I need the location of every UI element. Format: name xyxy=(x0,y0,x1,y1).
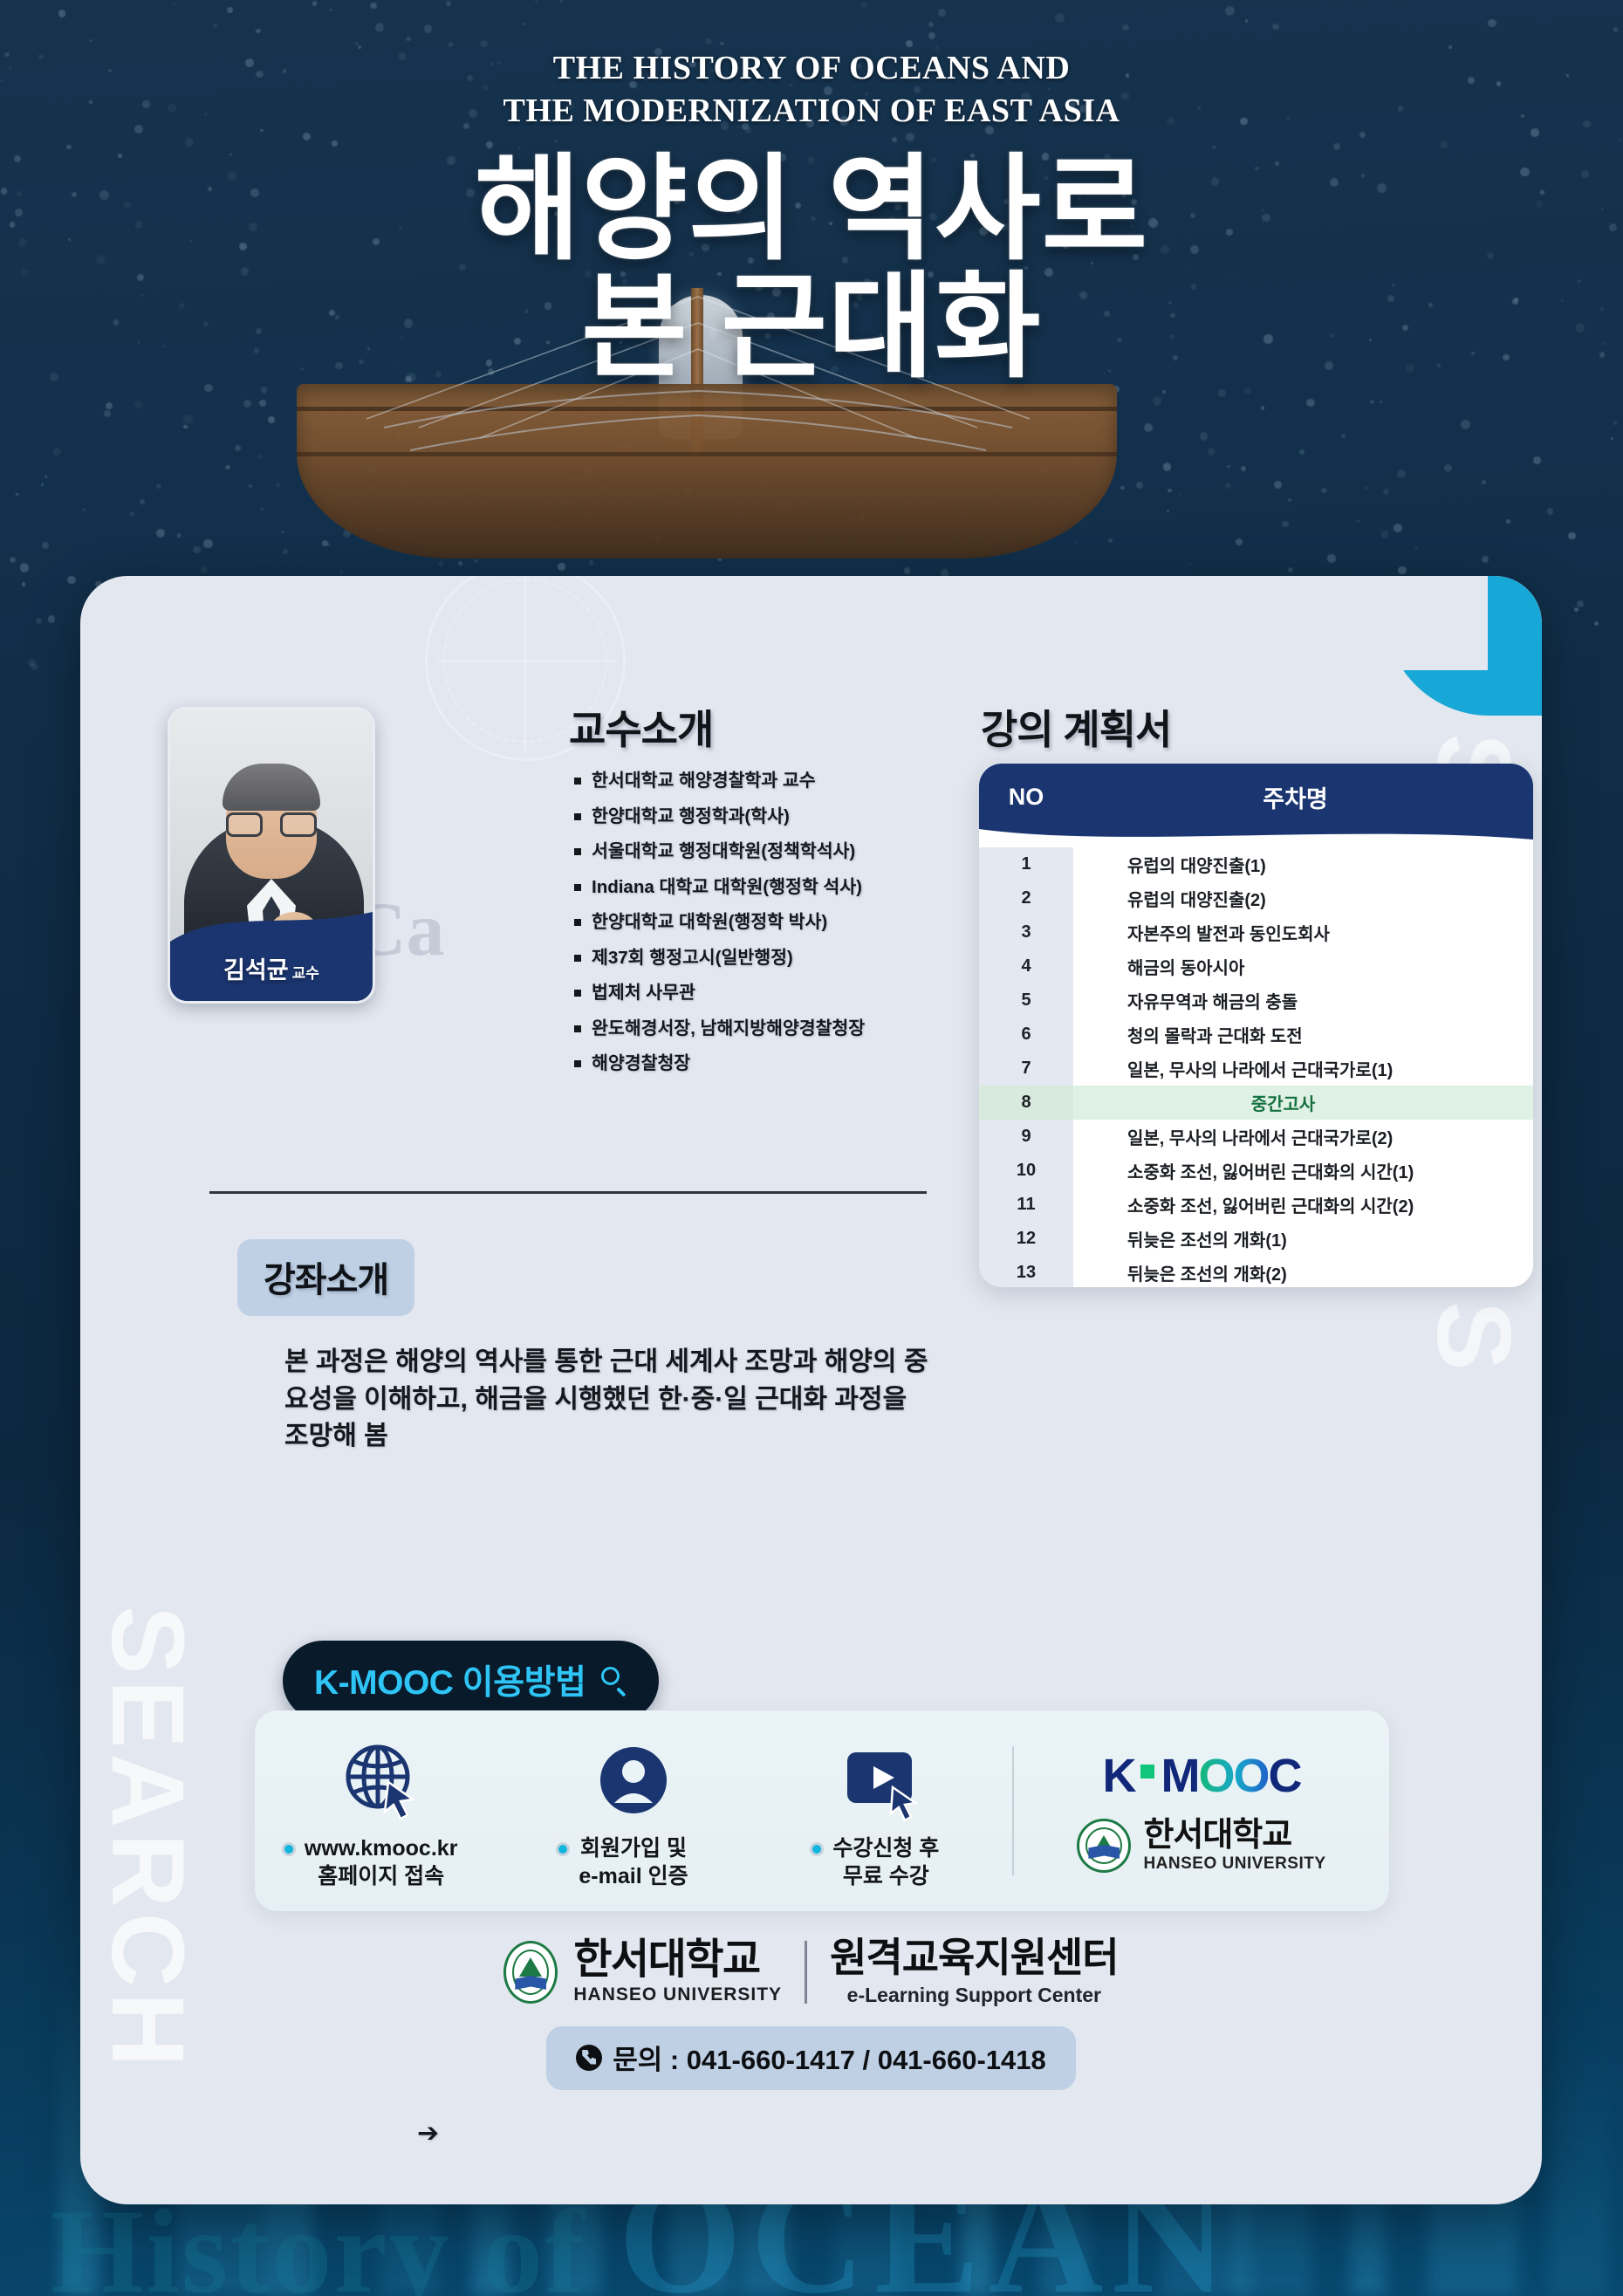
syllabus-row-no: 2 xyxy=(979,881,1073,915)
syllabus-row-no: 13 xyxy=(979,1256,1073,1287)
usage-step-label: 수강신청 후 무료 수강 xyxy=(832,1834,939,1891)
professor-name: 김석균 xyxy=(223,957,289,984)
kmooc-usage-label: K-MOOC 이용방법 xyxy=(314,1655,586,1704)
course-intro-body: ➔ 본 과정은 해양의 역사를 통한 근대 세계사 조망과 해양의 중요성을 이… xyxy=(246,1344,935,1456)
usage-step-line1: www.kmooc.kr xyxy=(305,1836,458,1861)
syllabus-row-no: 1 xyxy=(979,847,1073,881)
syllabus-row-name: 청의 몰락과 근대화 도전 xyxy=(1073,1022,1533,1047)
credential-item: 한양대학교 대학원(행정학 박사) xyxy=(574,914,949,932)
syllabus-row-name: 유럽의 대양진출(1) xyxy=(1073,852,1533,877)
hanseo-logo-en: HANSEO UNIVERSITY xyxy=(1143,1854,1325,1874)
syllabus-row: 10소중화 조선, 잃어버린 근대화의 시간(1) xyxy=(979,1154,1533,1188)
professor-section-heading: 교수소개 xyxy=(569,698,713,756)
play-button-icon xyxy=(842,1738,929,1822)
hanseo-logo: 한서대학교 HANSEO UNIVERSITY xyxy=(1077,1819,1325,1874)
kmooc-logo-oo: OO xyxy=(1198,1749,1268,1803)
syllabus-row-no: 6 xyxy=(979,1018,1073,1052)
course-intro-chip: 강좌소개 xyxy=(237,1239,414,1316)
syllabus-row: 4해금의 동아시아 xyxy=(979,949,1533,984)
usage-step-label: www.kmooc.kr 홈페이지 접속 xyxy=(305,1834,458,1891)
syllabus-row: 8중간고사 xyxy=(979,1086,1533,1120)
university-seal-icon xyxy=(503,1941,558,2004)
usage-step[interactable]: 수강신청 후 무료 수강 xyxy=(760,1731,1012,1891)
english-title-line1: THE HISTORY OF OCEANS AND xyxy=(0,47,1623,90)
footer-brand-en: HANSEO UNIVERSITY xyxy=(573,1984,782,2005)
syllabus-table: NO 주차명 1유럽의 대양진출(1)2유럽의 대양진출(2)3자본주의 발전과… xyxy=(979,764,1533,1287)
korean-title-line1: 해양의 역사로 xyxy=(0,151,1623,269)
syllabus-row-name: 자유무역과 해금의 충돌 xyxy=(1073,988,1533,1013)
syllabus-row: 6청의 몰락과 근대화 도전 xyxy=(979,1018,1533,1052)
kmooc-usage-button[interactable]: K-MOOC 이용방법 xyxy=(283,1641,659,1721)
english-title: THE HISTORY OF OCEANS AND THE MODERNIZAT… xyxy=(0,47,1623,132)
search-icon xyxy=(601,1667,627,1693)
course-intro-text: 본 과정은 해양의 역사를 통한 근대 세계사 조망과 해양의 중요성을 이해하… xyxy=(284,1344,935,1456)
syllabus-table-header: NO 주차명 xyxy=(979,764,1533,847)
usage-step-line2: e-mail 인증 xyxy=(579,1864,688,1888)
syllabus-row-no: 11 xyxy=(979,1188,1073,1222)
syllabus-row-no: 3 xyxy=(979,915,1073,949)
credential-item: 법제처 사무관 xyxy=(574,984,949,1003)
syllabus-section-heading: 강의 계획서 xyxy=(981,698,1171,756)
syllabus-row-name: 뒤늦은 조선의 개화(2) xyxy=(1073,1260,1533,1285)
syllabus-row-no: 8 xyxy=(979,1086,1073,1120)
kmooc-logo-square-icon xyxy=(1140,1765,1154,1779)
bullet-dot-icon xyxy=(282,1842,296,1856)
syllabus-row-no: 9 xyxy=(979,1120,1073,1154)
credential-item: 해양경찰청장 xyxy=(574,1055,949,1073)
usage-step-line2: 무료 수강 xyxy=(843,1864,929,1888)
column-header-week: 주차명 xyxy=(1073,780,1533,814)
syllabus-row: 3자본주의 발전과 동인도회사 xyxy=(979,915,1533,949)
professor-photo: 김석균교수 xyxy=(168,707,375,1004)
syllabus-row: 9일본, 무사의 나라에서 근대국가로(2) xyxy=(979,1120,1533,1154)
professor-title-suffix: 교수 xyxy=(292,965,319,982)
footer-center-kr: 원격교육지원센터 xyxy=(830,1937,1119,1977)
syllabus-row-name: 중간고사 xyxy=(1073,1090,1533,1115)
user-account-icon xyxy=(592,1738,675,1822)
credential-item: 제37회 행정고시(일반행정) xyxy=(574,949,949,968)
syllabus-row-no: 4 xyxy=(979,949,1073,984)
syllabus-row: 1유럽의 대양진출(1) xyxy=(979,847,1533,881)
footer-brand-kr: 한서대학교 xyxy=(573,1939,782,1981)
syllabus-row-name: 소중화 조선, 잃어버린 근대화의 시간(2) xyxy=(1073,1192,1533,1217)
credential-item: 한서대학교 해양경찰학과 교수 xyxy=(574,772,949,791)
university-seal-icon xyxy=(1077,1819,1131,1873)
credential-item: 완도해경서장, 남해지방해양경찰청장 xyxy=(574,1020,949,1038)
syllabus-row-no: 5 xyxy=(979,984,1073,1018)
footer-divider xyxy=(805,1941,807,2004)
kmooc-logo: K M OO C xyxy=(1102,1749,1300,1803)
syllabus-row: 12뒤늦은 조선의 개화(1) xyxy=(979,1222,1533,1256)
syllabus-row: 7일본, 무사의 나라에서 근대국가로(1) xyxy=(979,1052,1533,1086)
syllabus-table-body: 1유럽의 대양진출(1)2유럽의 대양진출(2)3자본주의 발전과 동인도회사4… xyxy=(979,847,1533,1287)
arrow-icon: ➔ xyxy=(417,2115,439,2153)
korean-title: 해양의 역사로 본 근대화 xyxy=(0,151,1623,386)
korean-title-line2: 본 근대화 xyxy=(0,269,1623,387)
syllabus-row-name: 일본, 무사의 나라에서 근대국가로(1) xyxy=(1073,1056,1533,1081)
usage-step-line1: 수강신청 후 xyxy=(832,1836,939,1861)
syllabus-row-no: 12 xyxy=(979,1222,1073,1256)
bullet-dot-icon xyxy=(556,1842,570,1856)
syllabus-row-no: 7 xyxy=(979,1052,1073,1086)
syllabus-row: 2유럽의 대양진출(2) xyxy=(979,881,1533,915)
phone-icon xyxy=(576,2045,602,2071)
footer-brand: 한서대학교 HANSEO UNIVERSITY 원격교육지원센터 e-Learn… xyxy=(503,1937,1118,2007)
syllabus-row-name: 해금의 동아시아 xyxy=(1073,954,1533,979)
syllabus-row: 13뒤늦은 조선의 개화(2) xyxy=(979,1256,1533,1287)
column-header-no: NO xyxy=(979,784,1073,811)
credential-item: 한양대학교 행정학과(학사) xyxy=(574,808,949,826)
syllabus-row: 11소중화 조선, 잃어버린 근대화의 시간(2) xyxy=(979,1188,1533,1222)
usage-step-label: 회원가입 및 e-mail 인증 xyxy=(579,1834,688,1891)
main-content-card: SYLLABUS SEARCH Ca 김석균교수 xyxy=(80,576,1542,2204)
syllabus-row-name: 일본, 무사의 나라에서 근대국가로(2) xyxy=(1073,1124,1533,1149)
title-block: THE HISTORY OF OCEANS AND THE MODERNIZAT… xyxy=(0,47,1623,387)
syllabus-row-name: 뒤늦은 조선의 개화(1) xyxy=(1073,1226,1533,1251)
glasses-icon xyxy=(226,812,317,839)
usage-step[interactable]: 회원가입 및 e-mail 인증 xyxy=(507,1731,759,1891)
poster-footer: 한서대학교 HANSEO UNIVERSITY 원격교육지원센터 e-Learn… xyxy=(80,1937,1542,2090)
globe-cursor-icon xyxy=(339,1738,423,1822)
contact-badge[interactable]: 문의 : 041-660-1417 / 041-660-1418 xyxy=(546,2026,1076,2090)
credential-item: Indiana 대학교 대학원(행정학 석사) xyxy=(574,879,949,897)
poster-root: History of OCEAN THE HISTORY OF OCEANS A… xyxy=(0,0,1623,2296)
kmooc-logo-k: K xyxy=(1102,1749,1134,1803)
credential-item: 서울대학교 행정대학원(정책학석사) xyxy=(574,843,949,861)
kmooc-logo-c: C xyxy=(1268,1749,1300,1803)
partner-logos: K M OO C 한서대학교 HANSEO UNIVERSITY xyxy=(1014,1749,1389,1874)
hanseo-logo-kr: 한서대학교 xyxy=(1143,1819,1325,1852)
contact-text: 문의 : 041-660-1417 / 041-660-1418 xyxy=(613,2038,1046,2077)
usage-step-line2: 홈페이지 접속 xyxy=(318,1864,444,1888)
syllabus-row-name: 자본주의 발전과 동인도회사 xyxy=(1073,920,1533,945)
professor-credentials-list: 한서대학교 해양경찰학과 교수한양대학교 행정학과(학사)서울대학교 행정대학원… xyxy=(574,772,949,1091)
usage-step[interactable]: www.kmooc.kr 홈페이지 접속 xyxy=(255,1731,507,1891)
syllabus-row-name: 소중화 조선, 잃어버린 근대화의 시간(1) xyxy=(1073,1158,1533,1183)
bullet-dot-icon xyxy=(810,1842,824,1856)
syllabus-row-name: 유럽의 대양진출(2) xyxy=(1073,886,1533,911)
english-title-line2: THE MODERNIZATION OF EAST ASIA xyxy=(0,90,1623,133)
section-divider xyxy=(209,1191,927,1194)
kmooc-logo-m: M xyxy=(1161,1749,1198,1803)
usage-steps-panel: www.kmooc.kr 홈페이지 접속 회원가입 및 xyxy=(255,1710,1389,1911)
usage-step-line1: 회원가입 및 xyxy=(580,1836,687,1861)
syllabus-row: 5자유무역과 해금의 충돌 xyxy=(979,984,1533,1018)
professor-name-plate: 김석균교수 xyxy=(170,951,373,985)
footer-center-en: e-Learning Support Center xyxy=(830,1984,1119,2007)
syllabus-row-no: 10 xyxy=(979,1154,1073,1188)
